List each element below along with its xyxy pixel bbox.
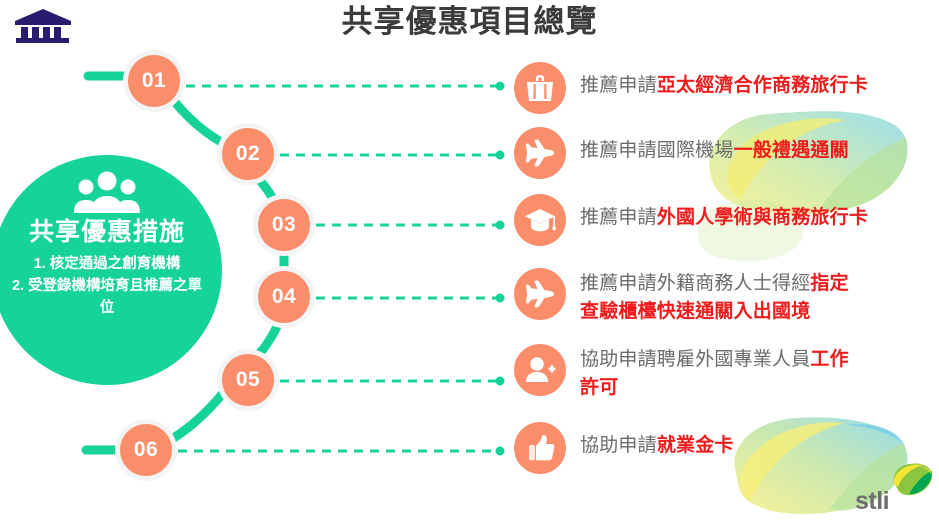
- step-bubble-06[interactable]: 06: [120, 424, 172, 476]
- benefit-row[interactable]: 推薦申請外籍商務人士得經指定查驗櫃檯快速通關入出國境: [514, 268, 934, 326]
- step-bubble-02[interactable]: 02: [222, 128, 274, 180]
- hub-list-item: 2.受登錄機構培育且推薦之單位: [7, 275, 207, 319]
- benefit-highlight: 工作: [810, 349, 848, 370]
- hub-list-item-text: 核定通過之創育機構: [50, 256, 181, 272]
- benefit-lead: 推薦申請: [580, 75, 657, 96]
- benefit-text: 推薦申請亞太經濟合作商務旅行卡: [580, 62, 868, 100]
- benefit-row[interactable]: 推薦申請亞太經濟合作商務旅行卡: [514, 62, 934, 114]
- step-bubble-01[interactable]: 01: [128, 55, 180, 107]
- thumbs-up-icon: [514, 422, 566, 474]
- benefit-lead: 推薦申請: [580, 207, 657, 228]
- hub-circle: 共享優惠措施 1.核定通過之創育機構 2.受登錄機構培育且推薦之單位: [0, 155, 222, 385]
- stli-logo: stli: [855, 462, 933, 518]
- benefit-text: 協助申請聘雇外國專業人員工作許可: [580, 344, 849, 402]
- connector-dot-03: [496, 221, 505, 230]
- step-bubble-05[interactable]: 05: [222, 354, 274, 406]
- benefit-highlight: 一般禮遇通關: [734, 140, 849, 161]
- benefit-highlight: 指定: [810, 273, 848, 294]
- connector-dot-02: [496, 151, 505, 160]
- benefit-row[interactable]: 推薦申請國際機場一般禮遇通關: [514, 127, 934, 179]
- benefit-highlight-2: 查驗櫃檯快速通關入出國境: [580, 301, 810, 322]
- benefit-row[interactable]: 協助申請聘雇外國專業人員工作許可: [514, 344, 934, 402]
- benefit-lead: 協助申請聘雇外國專業人員: [580, 349, 810, 370]
- benefit-text: 推薦申請國際機場一般禮遇通關: [580, 127, 849, 165]
- benefit-text: 推薦申請外籍商務人士得經指定查驗櫃檯快速通關入出國境: [580, 268, 849, 326]
- hub-heading: 共享優惠措施: [29, 217, 185, 247]
- path-segment-01-02: [165, 90, 232, 148]
- benefit-lead: 推薦申請國際機場: [580, 140, 734, 161]
- benefit-highlight-2: 許可: [580, 377, 618, 398]
- slide-canvas: 共享優惠項目總覽: [0, 0, 939, 520]
- briefcase-icon: [514, 62, 566, 114]
- airplane-icon: [514, 268, 566, 320]
- airplane-icon: [514, 127, 566, 179]
- connector-dot-04: [496, 294, 505, 303]
- benefit-text: 推薦申請外國人學術與商務旅行卡: [580, 194, 868, 232]
- person-add-icon: [514, 344, 566, 396]
- stli-wordmark: stli: [855, 487, 889, 516]
- benefit-row[interactable]: 推薦申請外國人學術與商務旅行卡: [514, 194, 934, 246]
- benefit-lead: 協助申請: [580, 435, 657, 456]
- connector-dot-06: [496, 447, 505, 456]
- benefit-highlight: 就業金卡: [657, 435, 734, 456]
- hub-list-item-text: 受登錄機構培育且推薦之單位: [28, 278, 202, 316]
- benefit-highlight: 外國人學術與商務旅行卡: [657, 207, 868, 228]
- step-bubble-04[interactable]: 04: [258, 271, 310, 323]
- benefit-highlight: 亞太經濟合作商務旅行卡: [657, 75, 868, 96]
- hub-list-item: 1.核定通過之創育機構: [7, 253, 207, 275]
- hub-list: 1.核定通過之創育機構 2.受登錄機構培育且推薦之單位: [7, 253, 207, 319]
- connector-dot-01: [496, 82, 505, 91]
- graduation-cap-icon: [514, 194, 566, 246]
- hub-list-item-number: 2.: [12, 278, 24, 294]
- hub-list-item-number: 1.: [34, 256, 46, 272]
- people-group-icon: [73, 171, 141, 213]
- benefit-lead: 推薦申請外籍商務人士得經: [580, 273, 810, 294]
- connector-dot-05: [496, 377, 505, 386]
- benefit-text: 協助申請就業金卡: [580, 422, 734, 460]
- step-bubble-03[interactable]: 03: [258, 199, 310, 251]
